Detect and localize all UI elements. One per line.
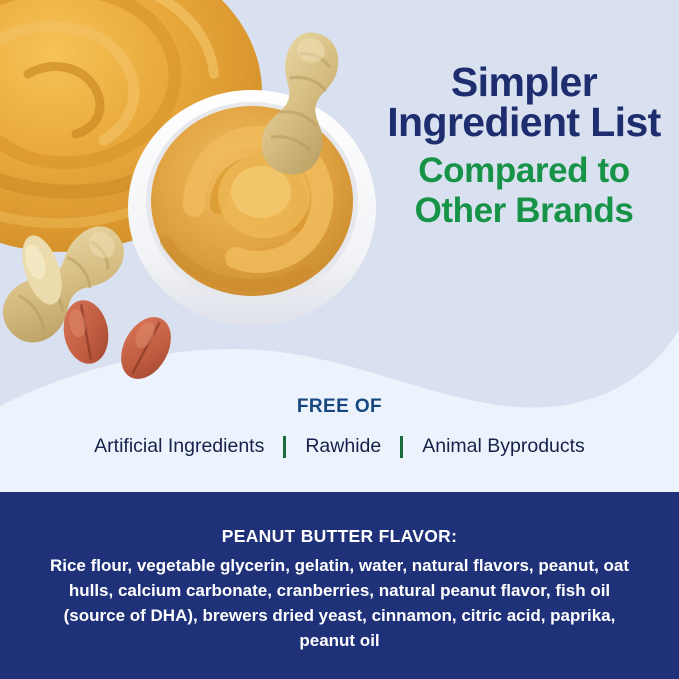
headline-secondary: Compared to Other Brands [378, 151, 670, 231]
free-of-item-animal-byproducts: Animal Byproducts [422, 435, 585, 458]
free-of-item-artificial-ingredients: Artificial Ingredients [94, 435, 264, 458]
ingredients-panel: PEANUT BUTTER FLAVOR: Rice flour, vegeta… [0, 492, 679, 679]
free-of-item-rawhide: Rawhide [305, 435, 381, 458]
ingredients-body: Rice flour, vegetable glycerin, gelatin,… [40, 553, 640, 653]
ingredients-title: PEANUT BUTTER FLAVOR: [22, 526, 657, 547]
divider-bar-1 [283, 436, 286, 458]
headline-primary: Simpler Ingredient List [378, 62, 670, 142]
divider-bar-2 [400, 436, 403, 458]
headline-block: Simpler Ingredient List Compared to Othe… [378, 62, 670, 231]
free-of-title: FREE OF [0, 396, 679, 418]
product-infographic: Simpler Ingredient List Compared to Othe… [0, 0, 679, 679]
free-of-list: Artificial Ingredients Rawhide Animal By… [0, 435, 679, 458]
free-of-section: FREE OF Artificial Ingredients Rawhide A… [0, 396, 679, 458]
